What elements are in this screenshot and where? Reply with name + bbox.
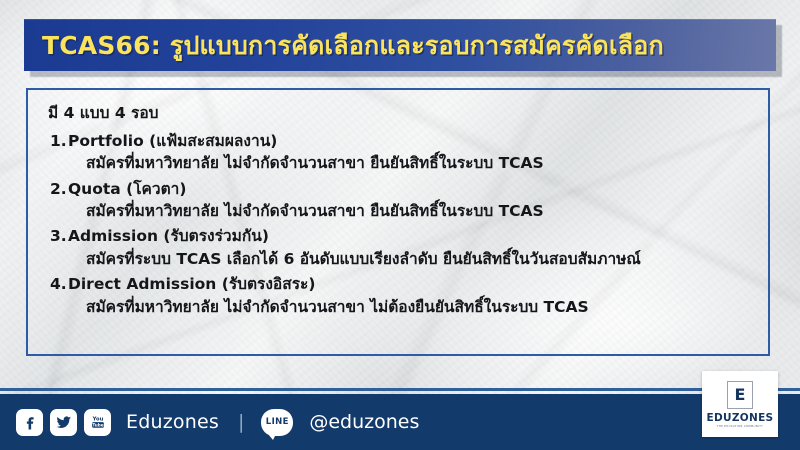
list-item-heading: 2. Quota (โควตา) — [46, 178, 750, 200]
list-item-title: Admission (รับตรงร่วมกัน) — [68, 225, 269, 247]
svg-text:Tube: Tube — [92, 422, 103, 427]
line-icon-label: LINE — [266, 418, 289, 427]
list-item-heading: 4. Direct Admission (รับตรงอิสระ) — [46, 273, 750, 295]
list-item-title: Portfolio (แฟ้มสะสมผลงาน) — [68, 130, 277, 152]
youtube-icon[interactable]: You Tube — [84, 409, 111, 436]
list-item-description: สมัครที่ระบบ TCAS เลือกได้ 6 อันดับแบบเร… — [46, 248, 750, 270]
list-item: 1. Portfolio (แฟ้มสะสมผลงาน) สมัครที่มหา… — [46, 130, 750, 175]
footer-divider-rule — [0, 388, 800, 391]
list-item-heading: 3. Admission (รับตรงร่วมกัน) — [46, 225, 750, 247]
eduzones-logo: E EDUZONES THE EDUCATION COMMUNITY — [702, 371, 778, 437]
facebook-icon[interactable] — [16, 409, 43, 436]
list-item-number: 4. — [46, 273, 68, 295]
list-item-description: สมัครที่มหาวิทยาลัย ไม่จำกัดจำนวนสาขา ยื… — [46, 152, 750, 174]
brand-name: Eduzones — [126, 411, 219, 433]
header-banner: TCAS66: รูปแบบการคัดเลือกและรอบการสมัครค… — [24, 19, 776, 71]
footer-social-group: You Tube Eduzones | LINE @eduzones — [0, 409, 419, 436]
list-item-description: สมัครที่มหาวิทยาลัย ไม่จำกัดจำนวนสาขา ไม… — [46, 296, 750, 318]
list-item-number: 1. — [46, 130, 68, 152]
list-item-title: Quota (โควตา) — [68, 178, 186, 200]
twitter-icon[interactable] — [50, 409, 77, 436]
slide-canvas: TCAS66: รูปแบบการคัดเลือกและรอบการสมัครค… — [0, 0, 800, 450]
list-item-description: สมัครที่มหาวิทยาลัย ไม่จำกัดจำนวนสาขา ยื… — [46, 200, 750, 222]
line-handle: @eduzones — [309, 411, 419, 433]
list-item-number: 3. — [46, 225, 68, 247]
logo-wordmark: EDUZONES — [707, 413, 774, 424]
logo-mark: E — [727, 381, 753, 409]
list-item-number: 2. — [46, 178, 68, 200]
content-panel: มี 4 แบบ 4 รอบ 1. Portfolio (แฟ้มสะสมผลง… — [26, 88, 770, 356]
logo-tagline: THE EDUCATION COMMUNITY — [717, 426, 763, 429]
list-item-heading: 1. Portfolio (แฟ้มสะสมผลงาน) — [46, 130, 750, 152]
line-icon[interactable]: LINE — [261, 409, 293, 436]
list-item-title: Direct Admission (รับตรงอิสระ) — [68, 273, 315, 295]
content-lead: มี 4 แบบ 4 รอบ — [48, 104, 750, 123]
list-item: 3. Admission (รับตรงร่วมกัน) สมัครที่ระบ… — [46, 225, 750, 270]
footer-bar: You Tube Eduzones | LINE @eduzones — [0, 394, 800, 450]
list-item: 2. Quota (โควตา) สมัครที่มหาวิทยาลัย ไม่… — [46, 178, 750, 223]
list-item: 4. Direct Admission (รับตรงอิสระ) สมัครท… — [46, 273, 750, 318]
page-title: TCAS66: รูปแบบการคัดเลือกและรอบการสมัครค… — [24, 33, 664, 58]
footer-separator: | — [238, 411, 244, 433]
